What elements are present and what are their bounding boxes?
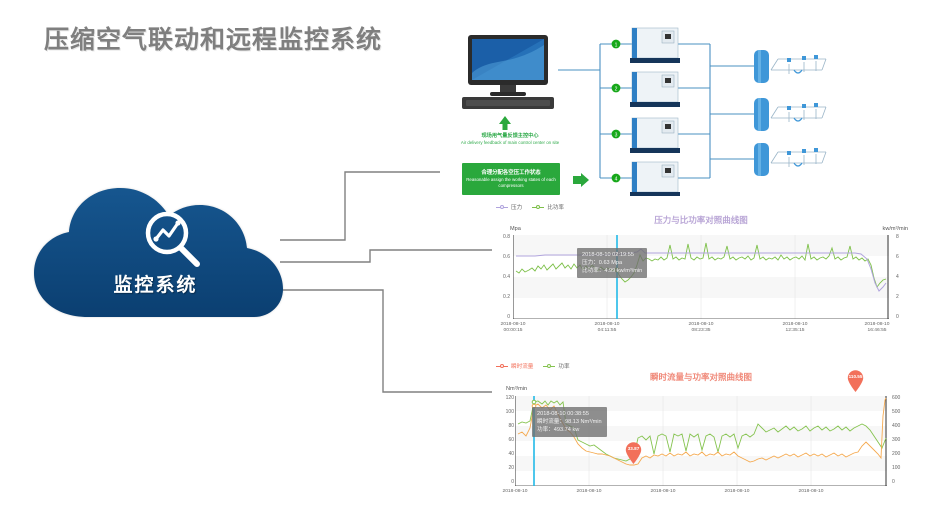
y-tick: 80 <box>492 423 514 429</box>
control-center-label: 现场用气量反馈主控中心 Air delivery feedback of mai… <box>458 133 562 145</box>
tooltip-line-2: 功率：493.74 kw <box>537 426 602 434</box>
assign-states-en: Reasonable assign the working states of … <box>462 177 560 188</box>
svg-text:2: 2 <box>615 86 618 92</box>
y-tick-right: 2 <box>896 294 910 300</box>
y-tick-right: 600 <box>892 395 910 401</box>
x-tick: 2018-08-1012:35:15 <box>770 322 820 334</box>
y-tick-right: 0 <box>892 479 910 485</box>
legend-item-pressure[interactable]: 压力 <box>496 203 522 211</box>
computer-icon <box>460 33 556 113</box>
green-up-arrow-icon <box>497 116 513 131</box>
x-tick: 2018-08-1000:00:15 <box>488 322 538 334</box>
x-tick: 2018-08-10 <box>564 489 614 495</box>
y-tick: 100 <box>492 409 514 415</box>
tooltip-line-1: 瞬时流量：98.13 Nm³/min <box>537 418 602 426</box>
y-tick: 60 <box>492 437 514 443</box>
legend-marker-icon <box>543 363 555 369</box>
legend-marker-icon <box>496 363 508 369</box>
y-tick: 40 <box>492 451 514 457</box>
page-title: 压缩空气联动和远程监控系统 <box>44 20 382 56</box>
slide-canvas: 压缩空气联动和远程监控系统 监控系统 <box>0 0 945 529</box>
pressure-chart-tooltip: 2018-08-10 02:19:55 压力：0.63 Mpa 比功率：4.99… <box>577 248 647 278</box>
flow-power-chart-panel: 瞬时流量 功率 瞬时流量与功率对照曲线图 Nm³/min 120 100 80 … <box>492 362 910 529</box>
topology-node-group: 1 2 3 4 <box>612 40 621 183</box>
topology-diagram: 现场用气量反馈主控中心 Air delivery feedback of mai… <box>440 18 935 198</box>
y-tick: 120 <box>492 395 514 401</box>
pressure-plot[interactable] <box>513 235 889 319</box>
legend-label: 压力 <box>511 203 522 211</box>
flow-chart-tooltip: 2018-08-10 00:38:55 瞬时流量：98.13 Nm³/min 功… <box>532 407 607 437</box>
y-axis-unit-left: Nm³/min <box>506 386 527 392</box>
legend-item-flow[interactable]: 瞬时流量 <box>496 362 533 370</box>
magnifier-chart-icon <box>140 210 206 270</box>
legend-item-power[interactable]: 功率 <box>543 362 569 370</box>
x-tick: 2018-08-1008:23:35 <box>676 322 726 334</box>
y-tick-right: 4 <box>896 274 910 280</box>
compressor-unit <box>630 28 680 196</box>
x-tick: 2018-08-10 <box>712 489 762 495</box>
y-tick-right: 100 <box>892 465 910 471</box>
assign-states-cn: 合理分配各空压工作状态 <box>462 170 560 177</box>
y-tick: 0 <box>492 314 510 320</box>
y-tick-right: 200 <box>892 451 910 457</box>
marker-value: 33.87 <box>625 446 642 451</box>
y-tick: 0.8 <box>492 234 510 240</box>
y-tick: 0 <box>492 479 514 485</box>
flow-chart-legend: 瞬时流量 功率 <box>496 362 570 370</box>
svg-text:4: 4 <box>615 176 618 182</box>
y-tick: 0.2 <box>492 294 510 300</box>
tooltip-line-2: 比功率：4.99 kw/m³/min <box>582 267 642 275</box>
legend-label: 比功率 <box>547 203 564 211</box>
cloud-label: 监控系统 <box>28 270 283 297</box>
x-tick: 2018-08-1016:46:55 <box>852 322 902 334</box>
pressure-chart-panel: 压力 比功率 压力与比功率对照曲线图 Mpa kw/m³/min 0.8 0.6… <box>492 203 910 335</box>
legend-marker-icon <box>496 204 508 210</box>
y-axis-unit-left: Mpa <box>510 226 521 232</box>
x-tick: 2018-08-10 <box>638 489 688 495</box>
monitoring-cloud[interactable]: 监控系统 <box>28 185 293 330</box>
y-tick-right: 0 <box>896 314 910 320</box>
min-value-marker[interactable]: 33.87 <box>625 442 642 464</box>
y-tick-right: 500 <box>892 409 910 415</box>
tooltip-timestamp: 2018-08-10 02:19:55 <box>582 251 642 259</box>
y-axis-unit-right: kw/m³/min <box>883 226 908 232</box>
y-tick-right: 300 <box>892 437 910 443</box>
y-tick: 0.4 <box>492 274 510 280</box>
y-tick: 20 <box>492 465 514 471</box>
y-tick-right: 400 <box>892 423 910 429</box>
marker-value: 110.55 <box>847 374 864 379</box>
x-tick: 2018-08-1004:11:55 <box>582 322 632 334</box>
topology-svg: 1 2 3 4 <box>558 26 933 196</box>
tooltip-timestamp: 2018-08-10 00:38:55 <box>537 410 602 418</box>
tooltip-line-1: 压力：0.63 Mpa <box>582 259 642 267</box>
legend-label: 瞬时流量 <box>511 362 533 370</box>
tank-pipeline-group <box>754 50 826 176</box>
y-tick: 0.6 <box>492 254 510 260</box>
y-tick-right: 8 <box>896 234 910 240</box>
legend-label: 功率 <box>558 362 569 370</box>
x-tick: 2018-08-10 <box>786 489 836 495</box>
x-tick: 2018-08-10 <box>490 489 540 495</box>
pressure-chart-legend: 压力 比功率 <box>496 203 564 211</box>
legend-item-specific-power[interactable]: 比功率 <box>532 203 564 211</box>
y-tick-right: 6 <box>896 254 910 260</box>
assign-states-box: 合理分配各空压工作状态 Reasonable assign the workin… <box>462 163 560 195</box>
control-center-label-en: Air delivery feedback of main control ce… <box>458 140 562 146</box>
legend-marker-icon <box>532 204 544 210</box>
svg-text:1: 1 <box>615 42 618 48</box>
svg-text:3: 3 <box>615 132 618 138</box>
pressure-chart-title: 压力与比功率对照曲线图 <box>492 214 910 226</box>
max-value-marker[interactable]: 110.55 <box>847 370 864 392</box>
